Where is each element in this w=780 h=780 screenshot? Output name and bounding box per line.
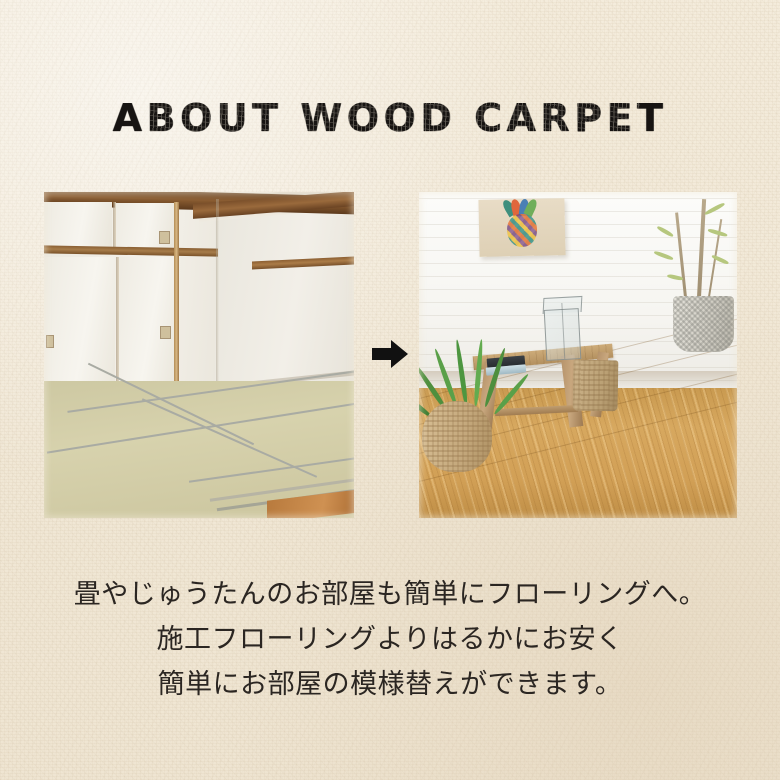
caption-line-1: 畳やじゅうたんのお部屋も簡単にフローリングへ。 bbox=[0, 572, 780, 617]
arrow-right-icon bbox=[372, 339, 408, 369]
caption-block: 畳やじゅうたんのお部屋も簡単にフローリングへ。 施工フローリングよりはるかにお安… bbox=[0, 572, 780, 707]
fusuma-handle bbox=[160, 326, 171, 339]
fusuma-upper-divider bbox=[113, 202, 116, 251]
fusuma-handle-left bbox=[46, 335, 54, 348]
before-photo bbox=[44, 192, 354, 518]
page-title: ABOUT WOOD CARPET bbox=[0, 96, 780, 140]
promo-page: ABOUT WOOD CARPET bbox=[0, 0, 780, 780]
fusuma-upper-panel-1 bbox=[44, 202, 112, 249]
woven-basket-planter-tall bbox=[673, 296, 733, 351]
after-photo bbox=[419, 192, 737, 518]
fusuma-upper-handle bbox=[159, 231, 170, 244]
woven-basket-small bbox=[573, 359, 618, 410]
caption-line-3: 簡単にお部屋の模様替えができます。 bbox=[0, 662, 780, 707]
caption-line-2: 施工フローリングよりはるかにお安く bbox=[0, 617, 780, 662]
woven-basket-planter-round bbox=[422, 401, 492, 473]
pineapple-body bbox=[507, 213, 537, 247]
glass-terrarium bbox=[543, 308, 581, 361]
pineapple-artwork bbox=[479, 198, 566, 257]
